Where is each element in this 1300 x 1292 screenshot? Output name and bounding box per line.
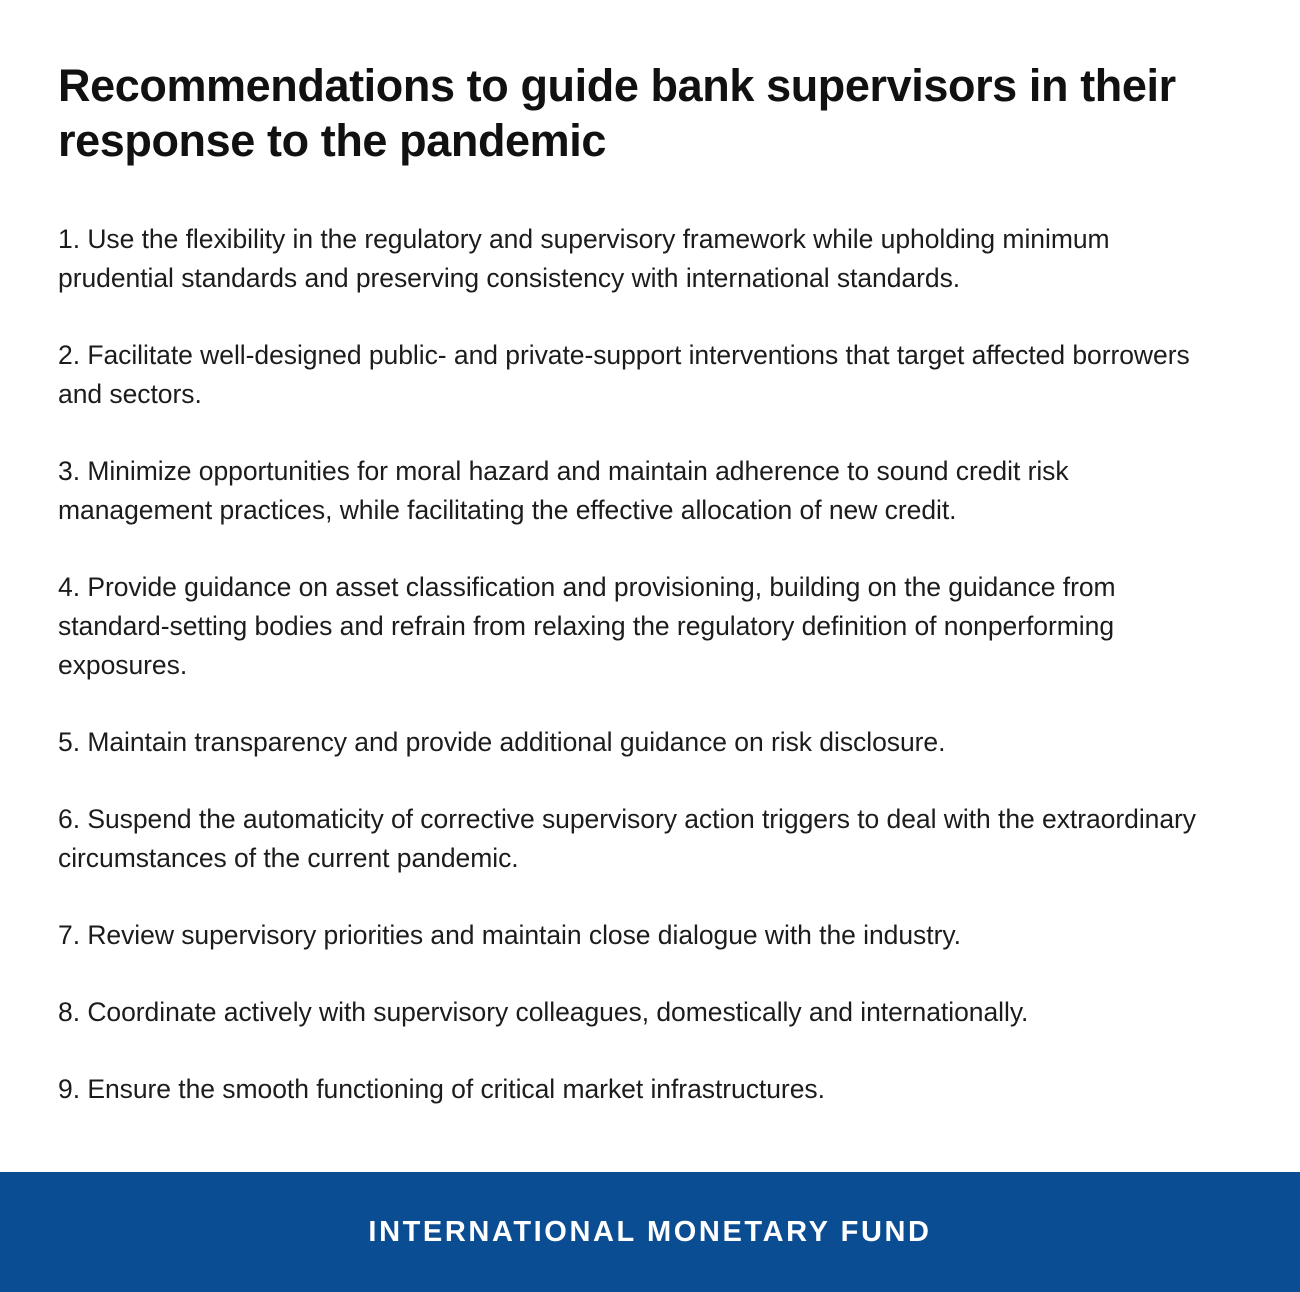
list-item: 7. Review supervisory priorities and mai… bbox=[58, 916, 1198, 955]
imf-recommendations-card: Recommendations to guide bank supervisor… bbox=[0, 0, 1300, 1292]
list-item: 9. Ensure the smooth functioning of crit… bbox=[58, 1070, 1198, 1109]
list-item: 8. Coordinate actively with supervisory … bbox=[58, 993, 1198, 1032]
list-item: 4. Provide guidance on asset classificat… bbox=[58, 568, 1198, 685]
recommendations-list: 1. Use the flexibility in the regulatory… bbox=[58, 220, 1240, 1109]
list-item: 5. Maintain transparency and provide add… bbox=[58, 723, 1198, 762]
list-item: 3. Minimize opportunities for moral haza… bbox=[58, 452, 1198, 530]
organization-name: INTERNATIONAL MONETARY FUND bbox=[368, 1218, 931, 1247]
footer-banner: INTERNATIONAL MONETARY FUND bbox=[0, 1172, 1300, 1292]
list-item: 2. Facilitate well-designed public- and … bbox=[58, 336, 1198, 414]
list-item: 1. Use the flexibility in the regulatory… bbox=[58, 220, 1198, 298]
list-item: 6. Suspend the automaticity of correctiv… bbox=[58, 800, 1198, 878]
page-title: Recommendations to guide bank supervisor… bbox=[58, 58, 1193, 168]
card-content: Recommendations to guide bank supervisor… bbox=[0, 0, 1300, 1172]
